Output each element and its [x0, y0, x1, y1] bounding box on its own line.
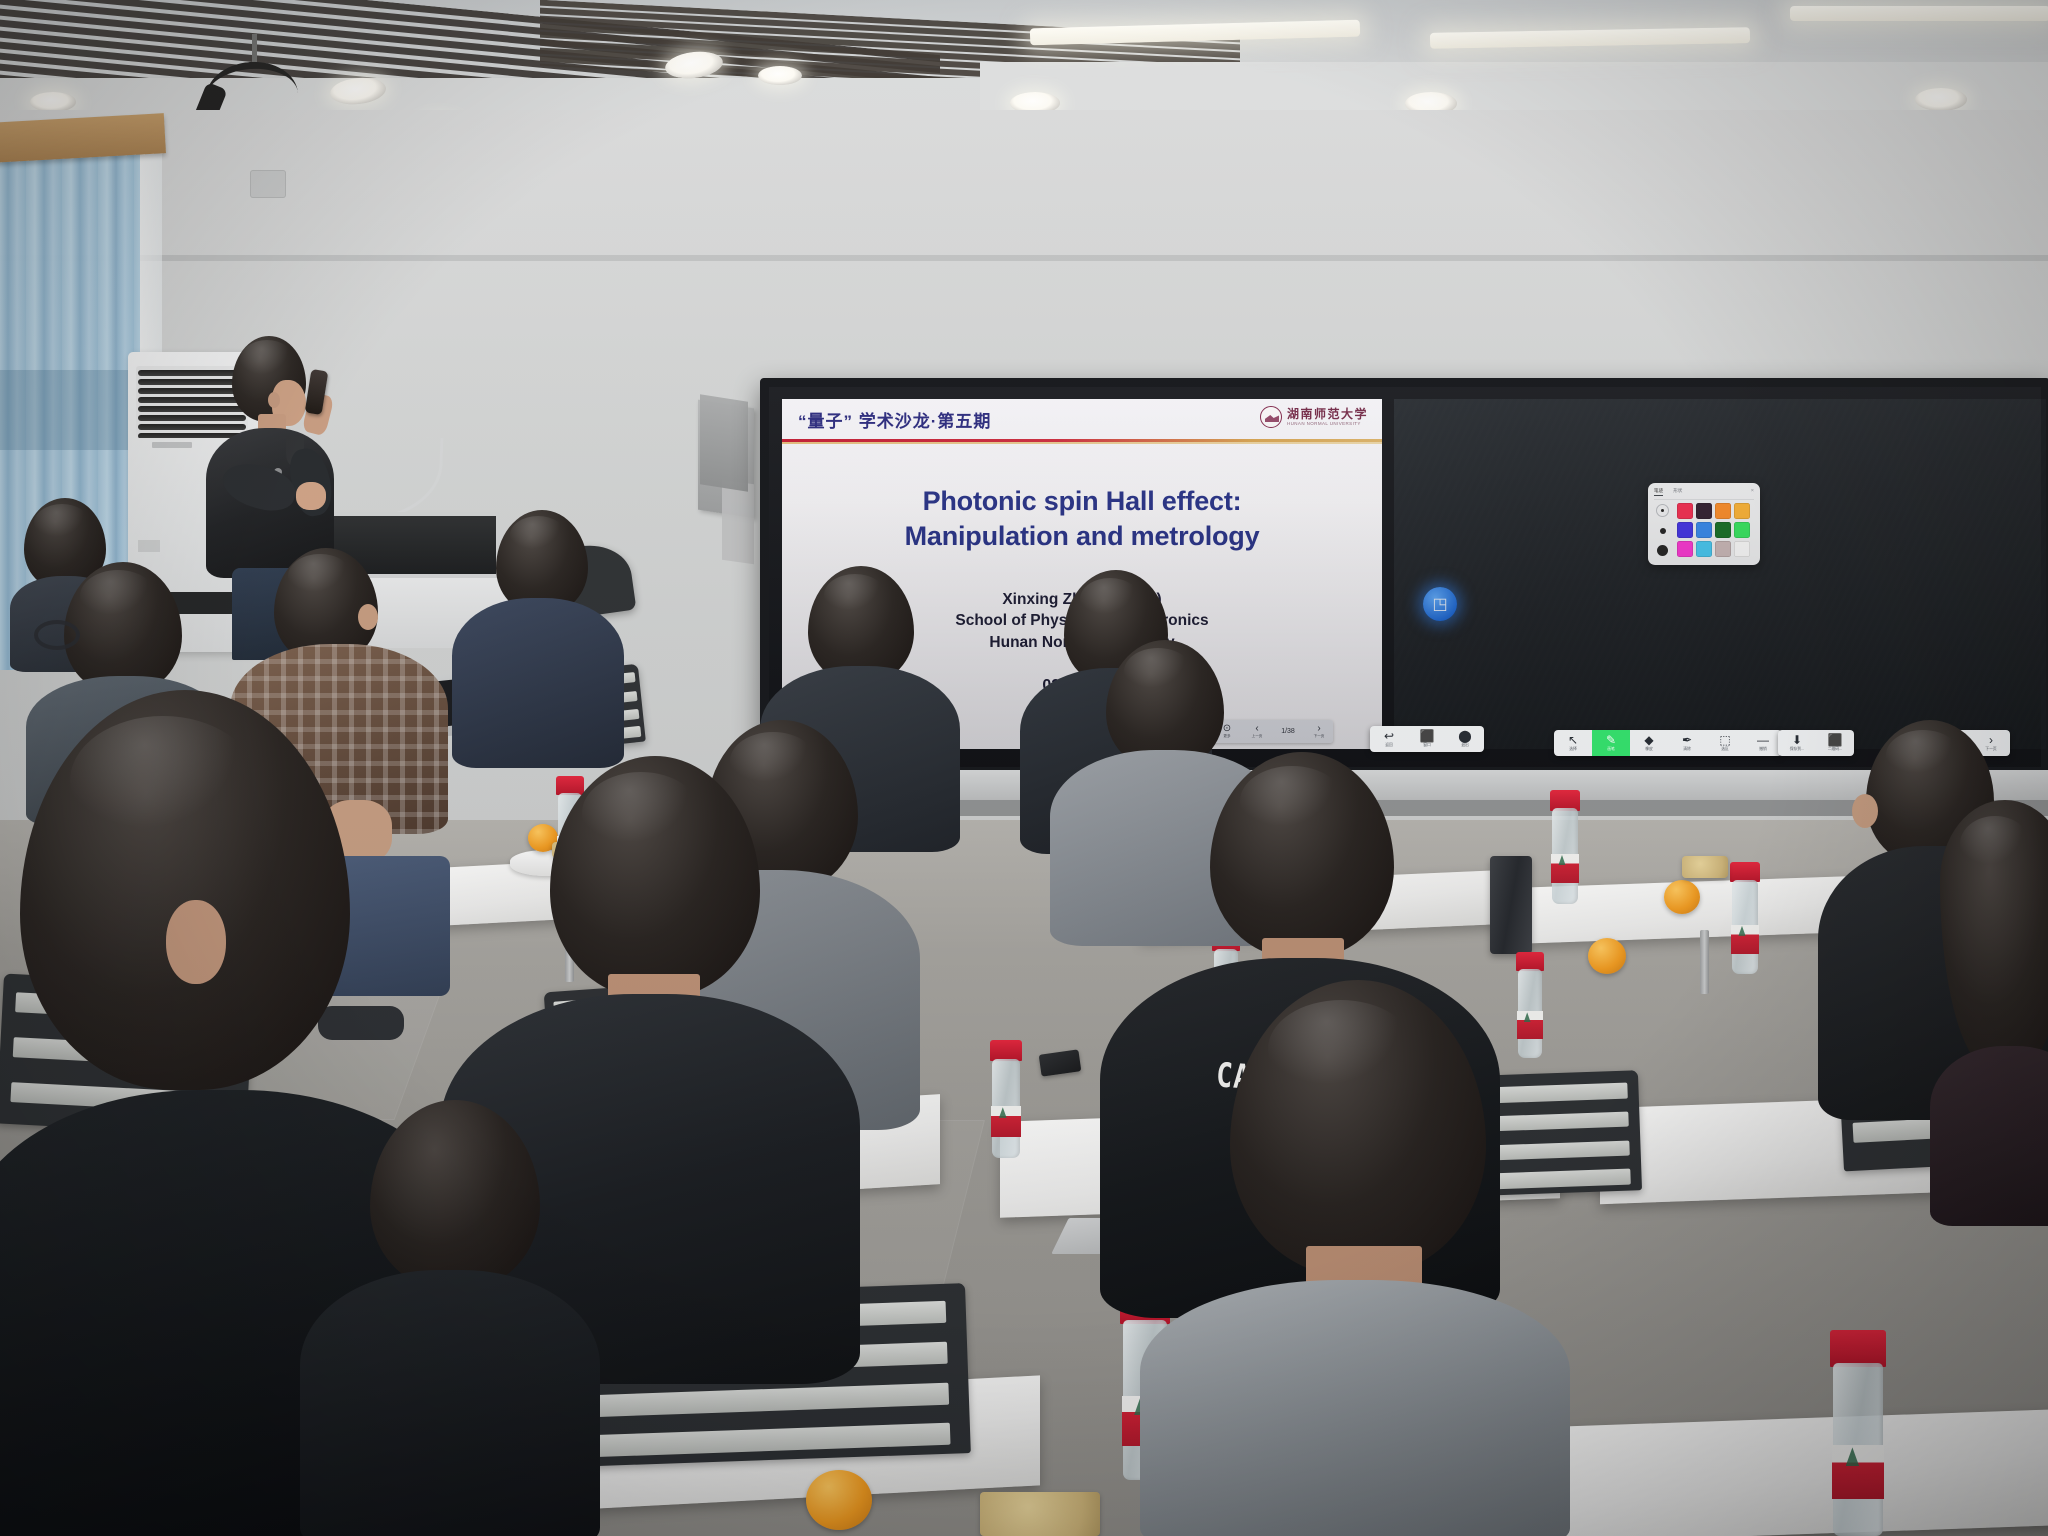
tool-橡皮[interactable]: ◆橡皮	[1630, 730, 1668, 756]
tool-label: 橡皮	[1645, 748, 1653, 752]
downlight	[1915, 88, 1967, 111]
slide-title-line1: Photonic spin Hall effect:	[905, 484, 1260, 520]
tool-label: 保存到...	[1790, 748, 1805, 752]
tool-label: 窗口	[1423, 744, 1431, 748]
tool-icon: ⬛	[1420, 730, 1435, 742]
orange	[1664, 880, 1700, 914]
ear	[358, 604, 378, 630]
tool-icon: —	[1757, 734, 1769, 746]
color-swatch-2[interactable]	[1715, 503, 1731, 519]
tool-label: 选区	[1721, 748, 1729, 752]
color-picker-popover[interactable]: 笔迹 形状 ×	[1648, 483, 1760, 565]
university-name-cn: 湖南师范大学	[1287, 408, 1368, 420]
tool-保存到...[interactable]: ⬇保存到...	[1778, 730, 1816, 756]
presenter-hand-left	[296, 482, 326, 510]
tool-label: 画笔	[1607, 748, 1615, 752]
hair-highlight	[510, 516, 566, 554]
close-icon[interactable]: ×	[1751, 488, 1754, 494]
hair-highlight	[1960, 816, 2030, 872]
orange	[1588, 938, 1626, 974]
torso	[1930, 1046, 2048, 1226]
water-bottle	[1550, 790, 1580, 904]
audience-member	[1930, 800, 2048, 1220]
tool-画笔[interactable]: ✎画笔	[1592, 730, 1630, 756]
color-swatch-10[interactable]	[1715, 541, 1731, 557]
ppt-next-button[interactable]: ›下一页	[1308, 722, 1330, 741]
hair-highlight	[80, 570, 156, 622]
pen-size-options[interactable]	[1654, 503, 1671, 557]
audience-member-closest	[1140, 980, 1570, 1536]
color-swatch-grid[interactable]	[1677, 503, 1750, 557]
hair-highlight	[1240, 766, 1344, 836]
tool-清除[interactable]: ✒清除	[1668, 730, 1706, 756]
hair-highlight	[70, 716, 256, 846]
tool-icon: ◆	[1644, 734, 1653, 746]
downlight	[758, 66, 802, 85]
color-picker-tabs[interactable]: 笔迹 形状 ×	[1654, 488, 1754, 496]
color-swatch-1[interactable]	[1696, 503, 1712, 519]
pen-size-2[interactable]	[1657, 545, 1668, 556]
tool-窗口[interactable]: ⬛窗口	[1408, 726, 1446, 752]
slide-header: “量子” 学术沙龙·第五期 湖南师范大学 HUNAN NORMAL UNIVER…	[782, 399, 1382, 439]
color-picker-divider	[1654, 499, 1754, 500]
orange	[806, 1470, 872, 1530]
color-swatch-6[interactable]	[1715, 522, 1731, 538]
slide-title: Photonic spin Hall effect: Manipulation …	[905, 484, 1260, 555]
slide-title-line2: Manipulation and metrology	[905, 519, 1260, 555]
torso-grey-tee	[1140, 1280, 1570, 1536]
tool-撤销[interactable]: —撤销	[1744, 730, 1782, 756]
hair-highlight	[288, 554, 352, 598]
curtain-shadow-band	[0, 370, 140, 450]
snack	[1682, 856, 1728, 878]
whiteboard-tool-bar[interactable]: ↖选择✎画笔◆橡皮✒清除⬚选区—撤销	[1554, 730, 1782, 756]
color-swatch-5[interactable]	[1696, 522, 1712, 538]
bottle-label	[1551, 854, 1579, 884]
ear	[166, 900, 226, 984]
bottle-label	[991, 1106, 1020, 1137]
hair-highlight	[1124, 648, 1192, 694]
color-picker-body	[1654, 503, 1754, 557]
eyeglasses-icon	[34, 620, 80, 650]
water-bottle	[1830, 1330, 1886, 1536]
color-swatch-7[interactable]	[1734, 522, 1750, 538]
hair-highlight	[1268, 1000, 1414, 1098]
tool-label: 选择	[1569, 748, 1577, 752]
tool-icon: ⬤	[1458, 730, 1471, 742]
tool-icon: ✒	[1682, 734, 1692, 746]
chevron-right-icon: ›	[1317, 724, 1320, 734]
pen-size-1[interactable]	[1660, 528, 1666, 534]
downlight	[30, 92, 76, 112]
tool-icon: ✎	[1606, 734, 1616, 746]
tool-icon: ⬚	[1719, 734, 1730, 746]
tool-label: 撤销	[1759, 748, 1767, 752]
floating-action-icon: ◳	[1432, 594, 1447, 614]
tab-shape[interactable]: 形状	[1673, 488, 1682, 496]
wall-vent	[250, 170, 286, 198]
hair-highlight	[824, 574, 886, 616]
air-conditioner-logo	[138, 540, 160, 552]
hair-highlight	[582, 772, 700, 854]
water-bottle	[990, 1040, 1022, 1158]
color-swatch-0[interactable]	[1677, 503, 1693, 519]
whiteboard-texture	[1394, 399, 2046, 749]
snack-plate-front	[980, 1492, 1100, 1536]
ppt-page-number: 1/38	[1281, 728, 1295, 735]
tool-退出[interactable]: ⬤退出	[1446, 726, 1484, 752]
presenter-hair-highlight	[240, 340, 294, 380]
display-statusbar[interactable]: ↩返回⬛窗口⬤退出	[1370, 726, 1484, 752]
tool-icon: ↖	[1568, 734, 1578, 746]
bottle-label	[1832, 1445, 1884, 1499]
ear	[1852, 794, 1878, 828]
table-leg	[1700, 930, 1709, 994]
university-name-en: HUNAN NORMAL UNIVERSITY	[1287, 422, 1368, 427]
color-swatch-4[interactable]	[1677, 522, 1693, 538]
display-wall-mount-lower	[722, 480, 754, 564]
bottle-cap	[1830, 1330, 1886, 1367]
university-logo: 湖南师范大学 HUNAN NORMAL UNIVERSITY	[1260, 406, 1368, 428]
head	[370, 1100, 540, 1290]
tool-label: 退出	[1461, 744, 1469, 748]
ppt-page-indicator: 1/38	[1277, 722, 1299, 741]
tool-返回[interactable]: ↩返回	[1370, 726, 1408, 752]
hair-highlight	[34, 504, 90, 542]
tool-选区[interactable]: ⬚选区	[1706, 730, 1744, 756]
wall-seam	[0, 255, 2048, 261]
audience-member	[300, 1100, 600, 1536]
university-seal-icon	[1260, 406, 1282, 428]
color-swatch-9[interactable]	[1696, 541, 1712, 557]
tool-选择[interactable]: ↖选择	[1554, 730, 1592, 756]
color-swatch-3[interactable]	[1734, 503, 1750, 519]
presenter-ear	[268, 392, 280, 408]
floating-action-button[interactable]: ◳	[1423, 587, 1457, 621]
color-swatch-11[interactable]	[1734, 541, 1750, 557]
water-bottle	[1730, 862, 1760, 974]
wall-speaker	[700, 394, 748, 492]
hair-highlight	[1080, 578, 1140, 620]
pen-size-0[interactable]	[1656, 504, 1669, 517]
ppt-next-label: 下一页	[1314, 735, 1325, 739]
color-swatch-8[interactable]	[1677, 541, 1693, 557]
air-conditioner-brand-mark	[152, 442, 192, 448]
whiteboard-canvas[interactable]: 笔迹 形状 ×	[1394, 399, 2046, 749]
bottle-label	[1731, 925, 1759, 954]
tab-pen[interactable]: 笔迹	[1654, 488, 1663, 496]
lecture-hall-photo: “量子” 学术沙龙·第五期 湖南师范大学 HUNAN NORMAL UNIVER…	[0, 0, 2048, 1536]
tool-icon: ↩	[1384, 730, 1394, 742]
torso	[300, 1270, 600, 1536]
linear-light-fixture	[1790, 6, 2048, 21]
slide-header-title: “量子” 学术沙龙·第五期	[798, 407, 991, 432]
pen-size-dot	[1661, 509, 1664, 512]
hair-highlight	[1886, 730, 1960, 780]
tool-icon: ⬇	[1792, 734, 1802, 746]
tool-label: 清除	[1683, 748, 1691, 752]
tool-label: 返回	[1385, 744, 1393, 748]
